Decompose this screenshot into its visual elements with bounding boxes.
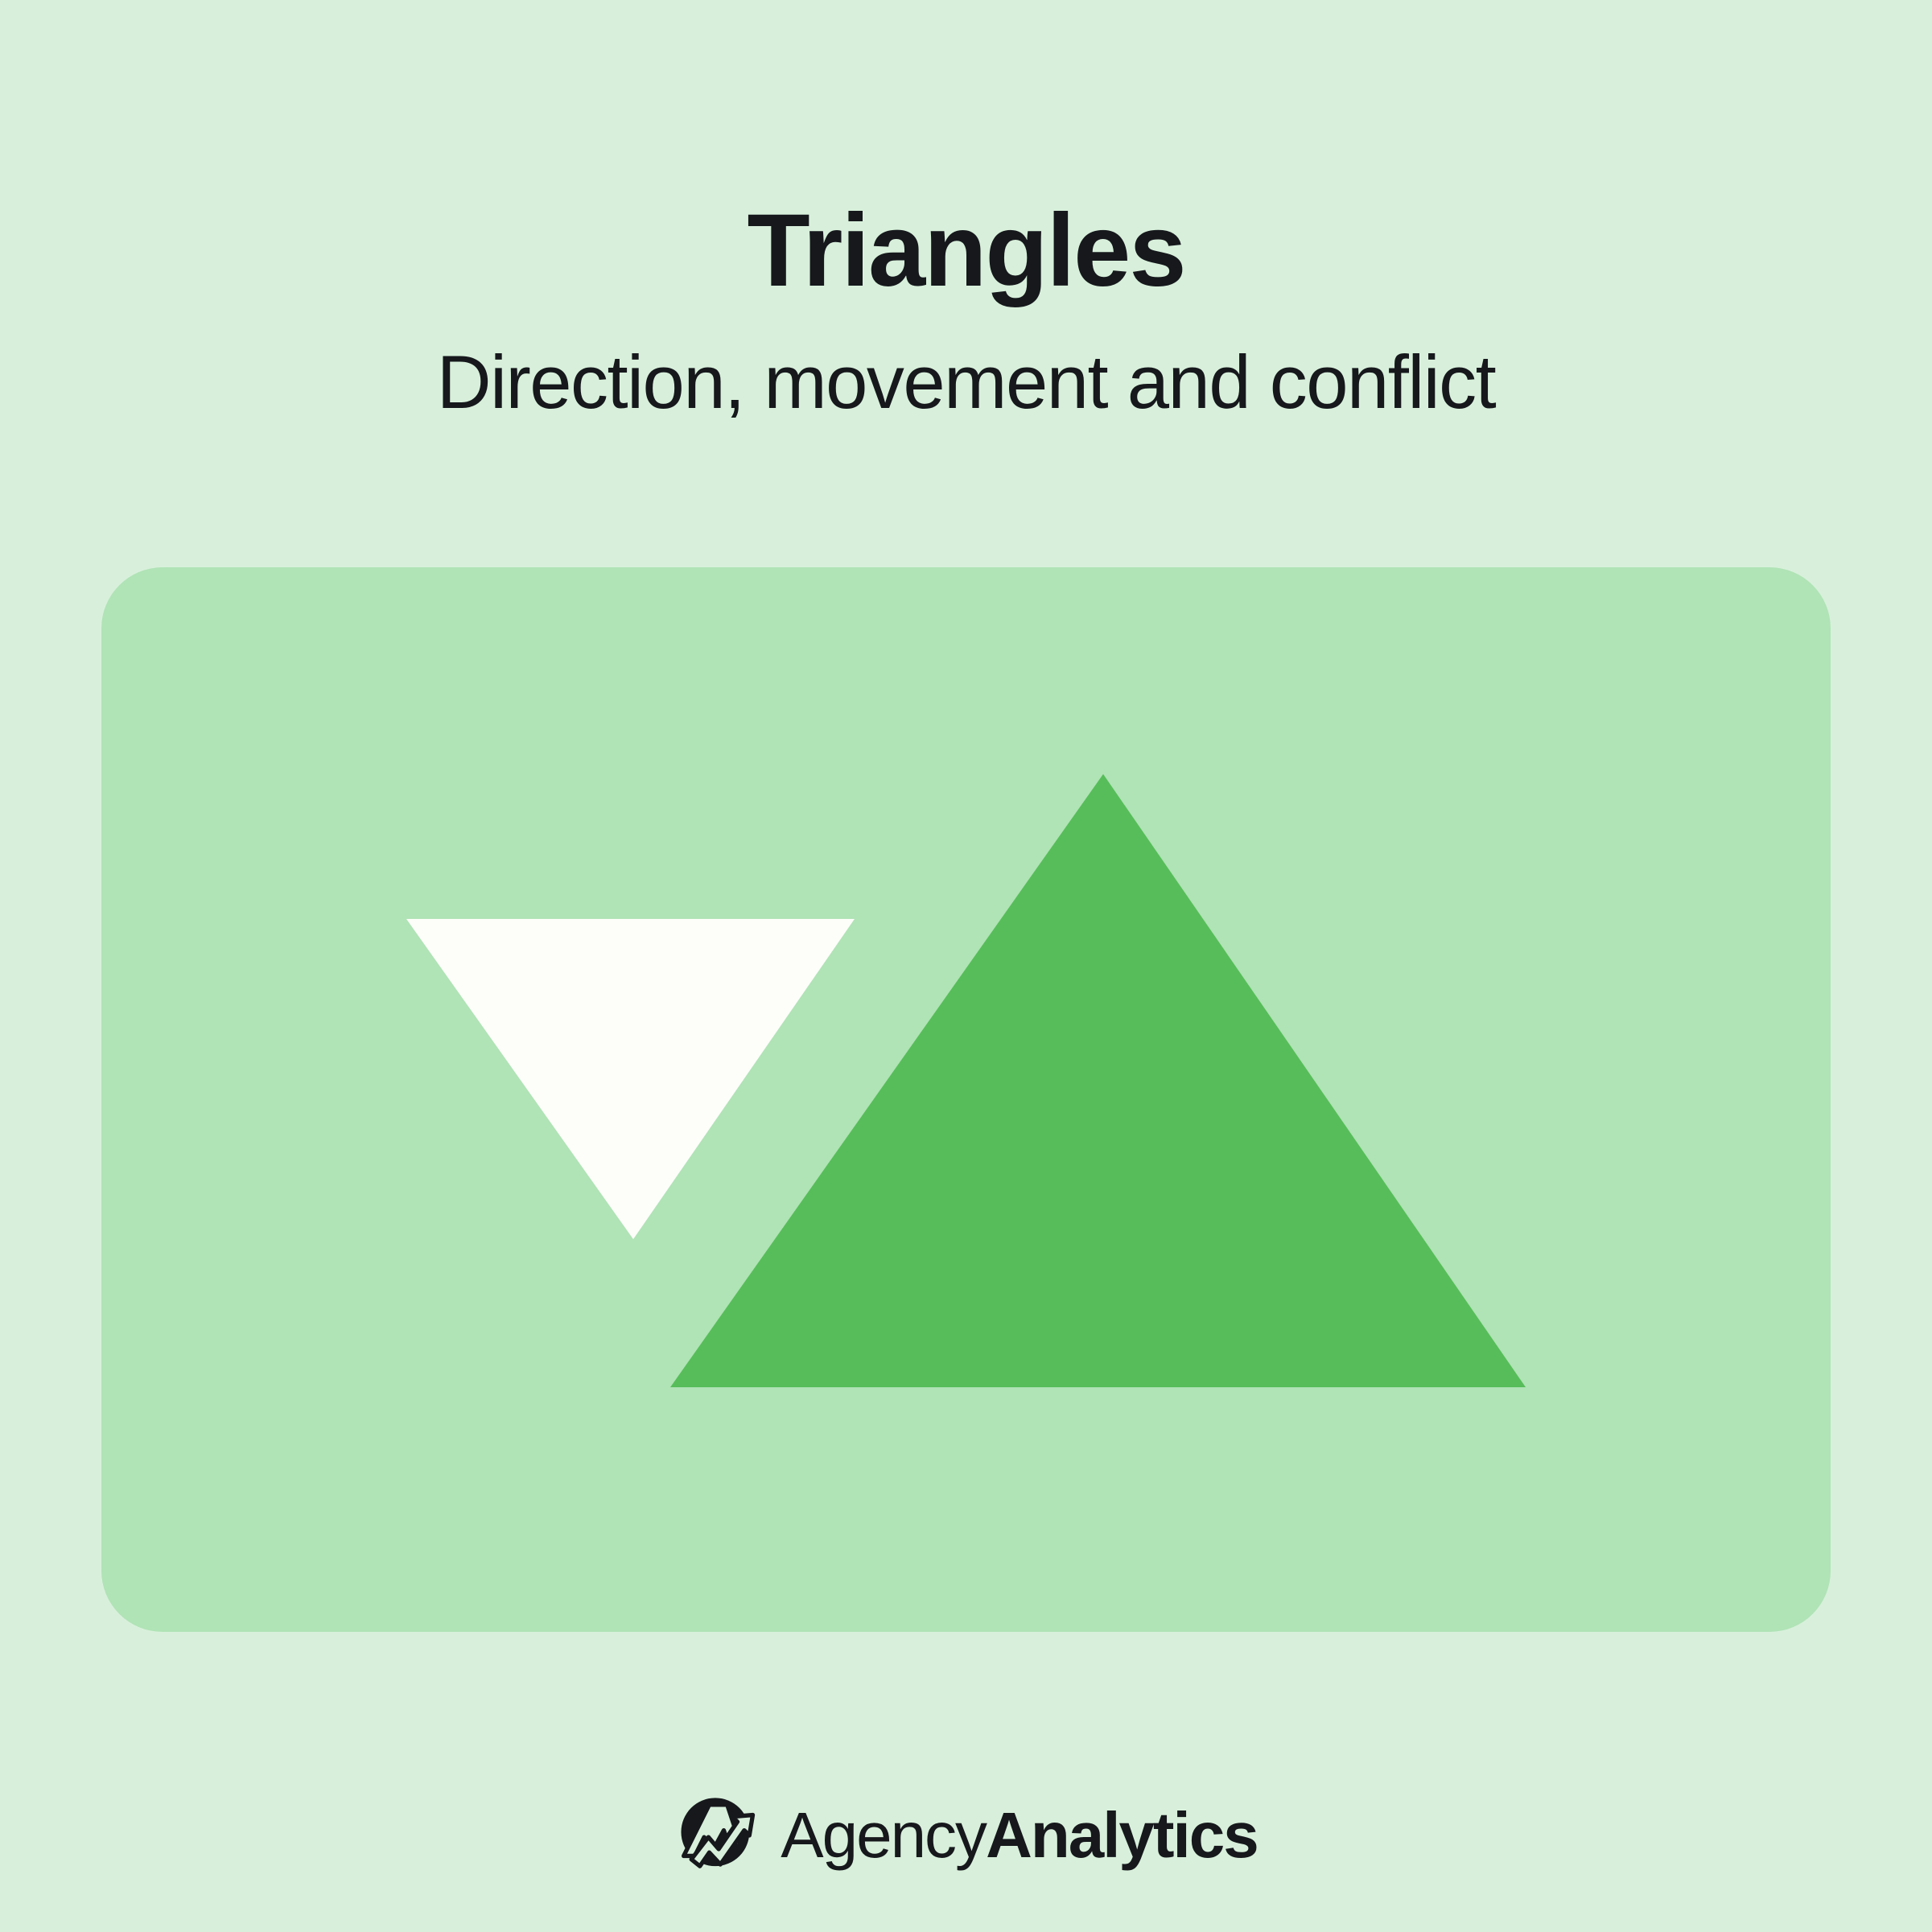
brand-name-light: Agency: [781, 1799, 986, 1871]
agencyanalytics-logo-icon: [674, 1793, 760, 1878]
poster-header: Triangles Direction, movement and confli…: [0, 0, 1932, 420]
page-subtitle: Direction, movement and conflict: [0, 344, 1932, 420]
poster-canvas: Triangles Direction, movement and confli…: [0, 0, 1932, 1932]
brand-lockup: AgencyAnalytics: [0, 1793, 1932, 1878]
brand-name-bold: Analytics: [986, 1799, 1258, 1871]
illustration-card: [101, 567, 1831, 1632]
upright-triangle-shape: [670, 774, 1526, 1387]
page-title: Triangles: [0, 200, 1932, 303]
triangles-illustration: [101, 567, 1831, 1632]
brand-wordmark: AgencyAnalytics: [781, 1803, 1258, 1868]
inverted-triangle-shape: [406, 919, 855, 1239]
